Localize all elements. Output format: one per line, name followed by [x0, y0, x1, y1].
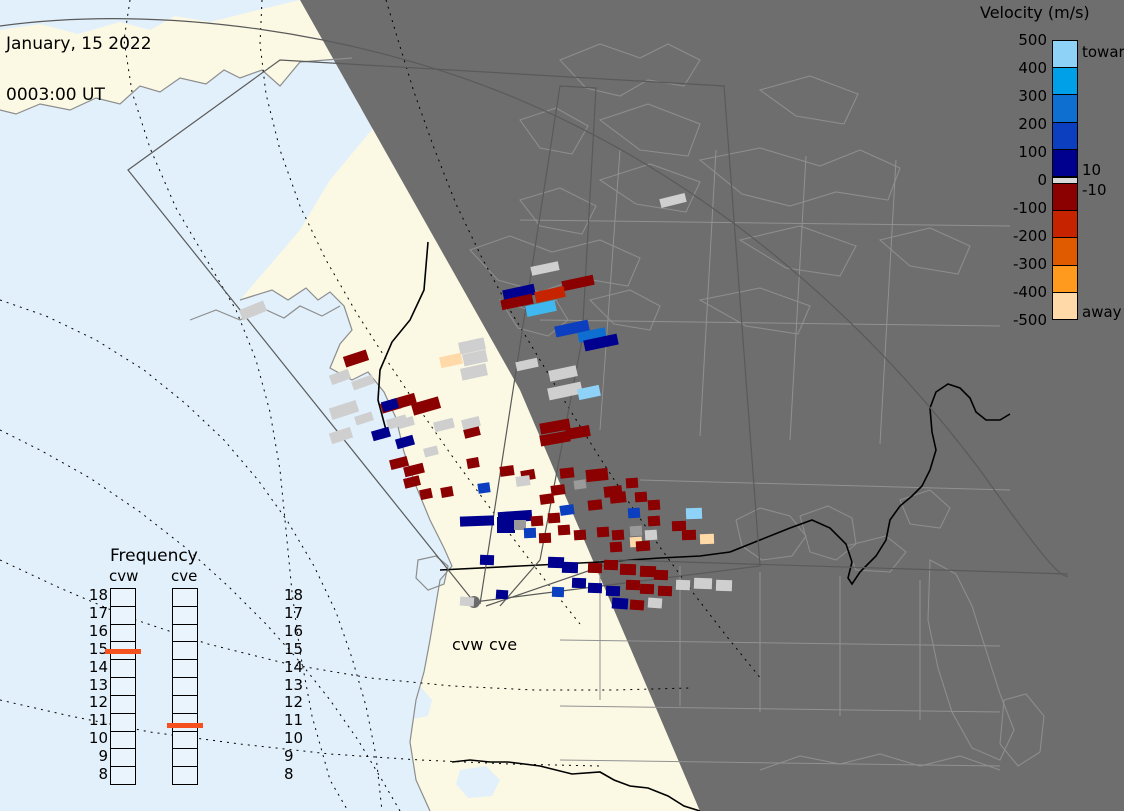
frequency-legend-panel: Frequency cvw18171615141312111098cve1817… [88, 545, 238, 790]
colorbar-segment [1053, 95, 1077, 122]
gauge-cell [111, 714, 135, 732]
colorbar-segment [1053, 184, 1077, 211]
colorbar-tick-label: 0 [1037, 171, 1047, 189]
colorbar-segment [1053, 238, 1077, 265]
scatter-cell [610, 542, 623, 553]
gauge-tick-label: 17 [84, 604, 108, 622]
colorbar-segment [1053, 41, 1077, 68]
scatter-cell [606, 586, 620, 596]
radar-map-canvas: January, 15 2022 0003:00 UT Velocity (m/… [0, 0, 1124, 811]
scatter-cell [645, 530, 658, 541]
scatter-cell [552, 587, 564, 597]
colorbar-side-label: toward [1082, 43, 1124, 61]
title-time: 0003:00 UT [6, 87, 152, 104]
scatter-cell [499, 465, 514, 477]
frequency-marker-cve [167, 723, 203, 728]
gauge-tick-label: 13 [284, 676, 312, 694]
gauge-tick-label: 12 [84, 693, 108, 711]
gauge-tick-label: 9 [84, 747, 108, 765]
colorbar-tick-labels: 5004003002001000-100-200-300-400-500 [975, 40, 1047, 320]
frequency-gauge-cve[interactable] [172, 588, 198, 785]
scatter-cell [558, 525, 571, 536]
gauge-cell [111, 660, 135, 678]
scatter-cell [460, 515, 494, 526]
scatter-cell [588, 499, 603, 510]
scatter-cell [560, 467, 575, 478]
frequency-gauge-cvw[interactable] [110, 588, 136, 785]
gauge-name-cvw: cvw [109, 567, 138, 585]
gauge-tick-label: 18 [84, 586, 108, 604]
scatter-cell [640, 566, 656, 578]
colorbar-tick-label: 300 [1018, 87, 1047, 105]
gauge-cell [173, 607, 197, 625]
scatter-cell [460, 597, 475, 607]
scatter-cell [531, 516, 544, 527]
scatter-cell [636, 541, 651, 552]
colorbar-tick-label: 100 [1018, 143, 1047, 161]
scatter-cell [628, 508, 641, 519]
scatter-cell [716, 580, 732, 592]
gauge-cell [111, 732, 135, 750]
scatter-cell [466, 457, 480, 469]
gauge-tick-label: 8 [284, 765, 312, 783]
scatter-cell [612, 597, 629, 609]
colorbar-segment [1053, 68, 1077, 95]
frequency-legend-title: Frequency [110, 546, 198, 566]
gauge-cell [173, 642, 197, 660]
gauge-cell [111, 625, 135, 643]
scatter-cell [539, 493, 554, 505]
station-label-cve[interactable]: cve [489, 635, 517, 654]
scatter-cell [626, 478, 639, 489]
gauge-name-cve: cve [171, 567, 197, 585]
gauge-cell [111, 749, 135, 767]
gauge-tick-label: 10 [84, 729, 108, 747]
scatter-cell [440, 486, 454, 498]
scatter-cell [676, 580, 690, 590]
colorbar-tick-label: -200 [1013, 227, 1047, 245]
scatter-cell [574, 530, 587, 541]
colorbar-title: Velocity (m/s) [980, 3, 1090, 22]
scatter-cell [686, 508, 702, 520]
gauge-cell [111, 589, 135, 607]
scatter-cell [626, 580, 640, 590]
gauge-tick-label: 17 [284, 604, 312, 622]
gauge-tick-label: 16 [284, 622, 312, 640]
gauge-tick-label: 18 [284, 586, 312, 604]
colorbar-side-label: away [1082, 303, 1122, 321]
scatter-cell [635, 492, 648, 503]
scatter-cell [573, 479, 586, 490]
scatter-cell [658, 586, 672, 596]
scatter-cell [559, 504, 574, 516]
station-label-cvw[interactable]: cvw [452, 635, 483, 654]
colorbar-tick-label: -100 [1013, 199, 1047, 217]
scatter-cell [597, 527, 610, 538]
scatter-cell [524, 528, 536, 538]
colorbar-tick-label: -300 [1013, 255, 1047, 273]
scatter-cell [588, 563, 602, 573]
gauge-cell [173, 732, 197, 750]
velocity-colorbar-panel: Velocity (m/s) 5004003002001000-100-200-… [975, 0, 1124, 340]
colorbar-segment [1053, 123, 1077, 150]
scatter-cell [648, 516, 661, 527]
scatter-cell [700, 534, 714, 544]
gauge-tick-label: 13 [84, 676, 108, 694]
scatter-cell [477, 482, 490, 494]
colorbar-tick-label: -400 [1013, 283, 1047, 301]
scatter-cell [548, 513, 561, 524]
gauge-cell [173, 660, 197, 678]
gauge-cell [173, 696, 197, 714]
scatter-cell [630, 600, 645, 611]
scatter-cell [588, 583, 602, 593]
colorbar-segment [1053, 293, 1077, 319]
gauge-tick-label: 12 [284, 693, 312, 711]
scatter-cell [609, 491, 626, 504]
colorbar-tick-label: 400 [1018, 59, 1047, 77]
gauge-cell [111, 678, 135, 696]
gauge-tick-label: 8 [84, 765, 108, 783]
scatter-cell [604, 560, 618, 570]
colorbar-segment [1053, 177, 1077, 184]
colorbar-segment [1053, 266, 1077, 293]
title-date: January, 15 2022 [6, 36, 152, 53]
colorbar-tick-label: 200 [1018, 115, 1047, 133]
gauge-cell [173, 625, 197, 643]
gauge-cell [111, 767, 135, 784]
colorbar-segment [1053, 211, 1077, 238]
gauge-cell [111, 607, 135, 625]
scatter-cell [630, 526, 643, 537]
gauge-tick-label: 11 [84, 711, 108, 729]
scatter-cell [694, 578, 712, 590]
frequency-marker-cvw [105, 649, 141, 654]
colorbar-tick-label: 500 [1018, 31, 1047, 49]
scatter-cell [562, 562, 578, 574]
scatter-cell [539, 533, 551, 543]
scatter-cell [682, 530, 696, 540]
gauge-tick-label: 15 [284, 640, 312, 658]
scatter-cell [672, 521, 686, 531]
colorbar-side-label: -10 [1082, 181, 1107, 199]
gauge-cell [111, 696, 135, 714]
colorbar-side-label: 10 [1082, 161, 1101, 179]
gauge-tick-label: 11 [284, 711, 312, 729]
scatter-cell [497, 517, 515, 533]
scatter-cell [585, 468, 608, 482]
colorbar-tick-label: -500 [1013, 311, 1047, 329]
gauge-cell [173, 589, 197, 607]
gauge-tick-label: 14 [284, 658, 312, 676]
colorbar-gradient [1052, 40, 1078, 320]
scatter-cell [640, 584, 654, 594]
scatter-cell [496, 590, 509, 600]
scatter-cell [480, 555, 494, 565]
gauge-tick-label: 9 [284, 747, 312, 765]
scatter-cell [654, 570, 668, 580]
timestamp-title: January, 15 2022 0003:00 UT [6, 2, 152, 138]
colorbar-segment [1053, 150, 1077, 177]
gauge-cell [173, 678, 197, 696]
scatter-cell [612, 530, 625, 541]
scatter-cell [648, 500, 661, 511]
scatter-cell [515, 475, 530, 487]
gauge-cell [173, 749, 197, 767]
scatter-cell [572, 578, 586, 588]
gauge-tick-label: 16 [84, 622, 108, 640]
scatter-cell [620, 564, 636, 576]
gauge-tick-label: 10 [284, 729, 312, 747]
gauge-cell [173, 767, 197, 784]
gauge-tick-label: 14 [84, 658, 108, 676]
scatter-cell [648, 598, 663, 609]
scatter-cell [548, 557, 564, 569]
